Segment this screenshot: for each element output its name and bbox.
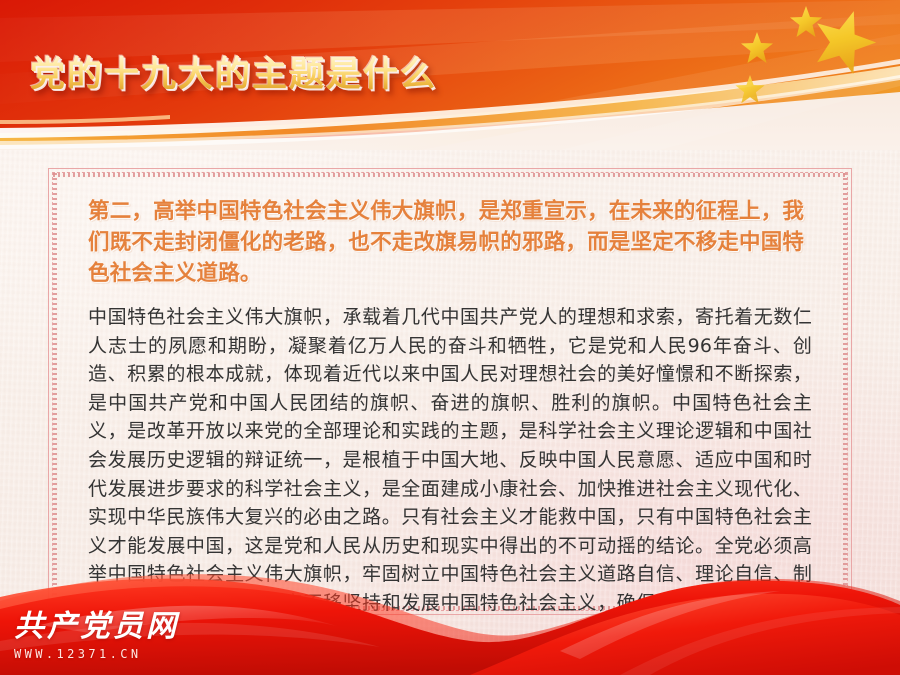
header-banner: 党的十九大的主题是什么 [0, 0, 900, 150]
lead-paragraph: 第二，高举中国特色社会主义伟大旗帜，是郑重宣示，在未来的征程上，我们既不走封闭僵… [88, 196, 812, 289]
frame-border-left-pattern [53, 173, 57, 610]
frame-border-top-pattern [53, 173, 847, 177]
frame-border-right-pattern [843, 173, 847, 610]
silk-graphic [0, 555, 900, 675]
red-silk-ribbon: 共产党员网 WWW.12371.CN [0, 555, 900, 675]
page-title: 党的十九大的主题是什么 [30, 53, 437, 97]
poster-page: 党的十九大的主题是什么 第二，高举中国特色社会主义伟大旗帜，是郑重宣示，在未来的… [0, 0, 900, 675]
